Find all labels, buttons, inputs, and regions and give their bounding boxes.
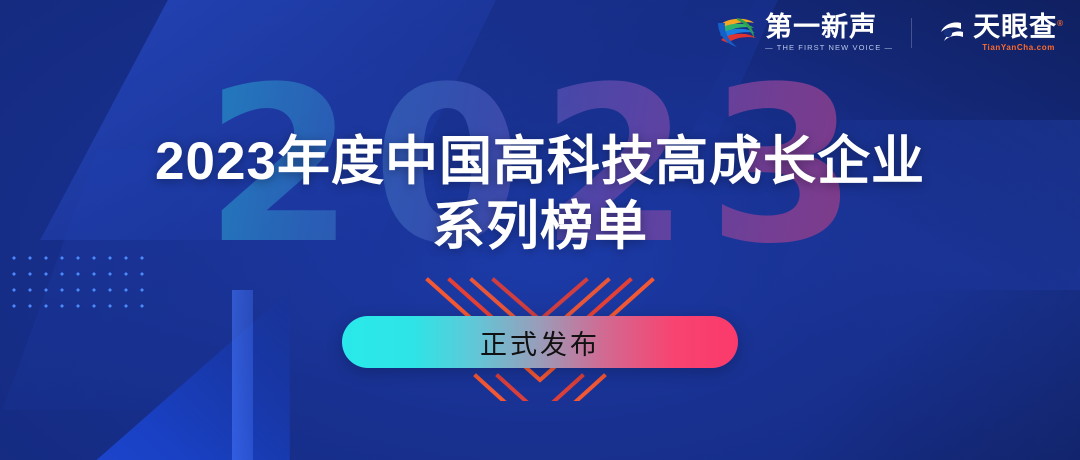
logo-tianyancha[interactable]: 天眼查® TianYanCha.com bbox=[930, 14, 1064, 52]
background-facet-right-light bbox=[679, 120, 1080, 460]
logo-diyixinsheng-text: 第一新声 — THE FIRST NEW VOICE — bbox=[765, 14, 893, 52]
logo-diyixinsheng-cn: 第一新声 bbox=[765, 14, 893, 41]
title-line-2: 系列榜单 bbox=[0, 195, 1080, 260]
trademark-icon: ® bbox=[1057, 19, 1064, 28]
background-facet-bottom-left bbox=[0, 290, 290, 460]
logo-diyixinsheng[interactable]: 第一新声 — THE FIRST NEW VOICE — bbox=[716, 14, 893, 52]
logo-tianyancha-cn-label: 天眼查 bbox=[973, 12, 1057, 42]
logo-divider bbox=[911, 18, 912, 48]
swoosh-ribbon-icon bbox=[716, 16, 758, 50]
publish-button-label: 正式发布 bbox=[480, 323, 600, 362]
dot-grid-decoration bbox=[4, 248, 154, 310]
background-facet-bottom-left-edge bbox=[232, 290, 292, 460]
publish-button[interactable]: 正式发布 bbox=[342, 316, 738, 368]
logo-diyixinsheng-tagline: — THE FIRST NEW VOICE — bbox=[765, 44, 893, 52]
title-line-1: 2023年度中国高科技高成长企业 bbox=[0, 130, 1080, 195]
background-facet-bottom-right bbox=[725, 290, 1080, 460]
logo-tianyancha-text: 天眼查® TianYanCha.com bbox=[973, 14, 1064, 52]
camera-aperture-eye-icon bbox=[930, 16, 966, 50]
poster-canvas: 2023 第一新声 bbox=[0, 0, 1080, 460]
logo-tianyancha-cn: 天眼查® bbox=[973, 14, 1064, 41]
logo-tianyancha-tagline: TianYanCha.com bbox=[973, 44, 1064, 52]
background-facet-middle bbox=[3, 150, 798, 410]
background-facet-top-left bbox=[40, 0, 720, 240]
background-facet-top-left-dark bbox=[350, 0, 771, 300]
watermark-year: 2023 bbox=[0, 58, 1080, 273]
logo-bar: 第一新声 — THE FIRST NEW VOICE — 天眼查® TianYa… bbox=[716, 14, 1064, 52]
page-title: 2023年度中国高科技高成长企业 系列榜单 bbox=[0, 130, 1080, 259]
